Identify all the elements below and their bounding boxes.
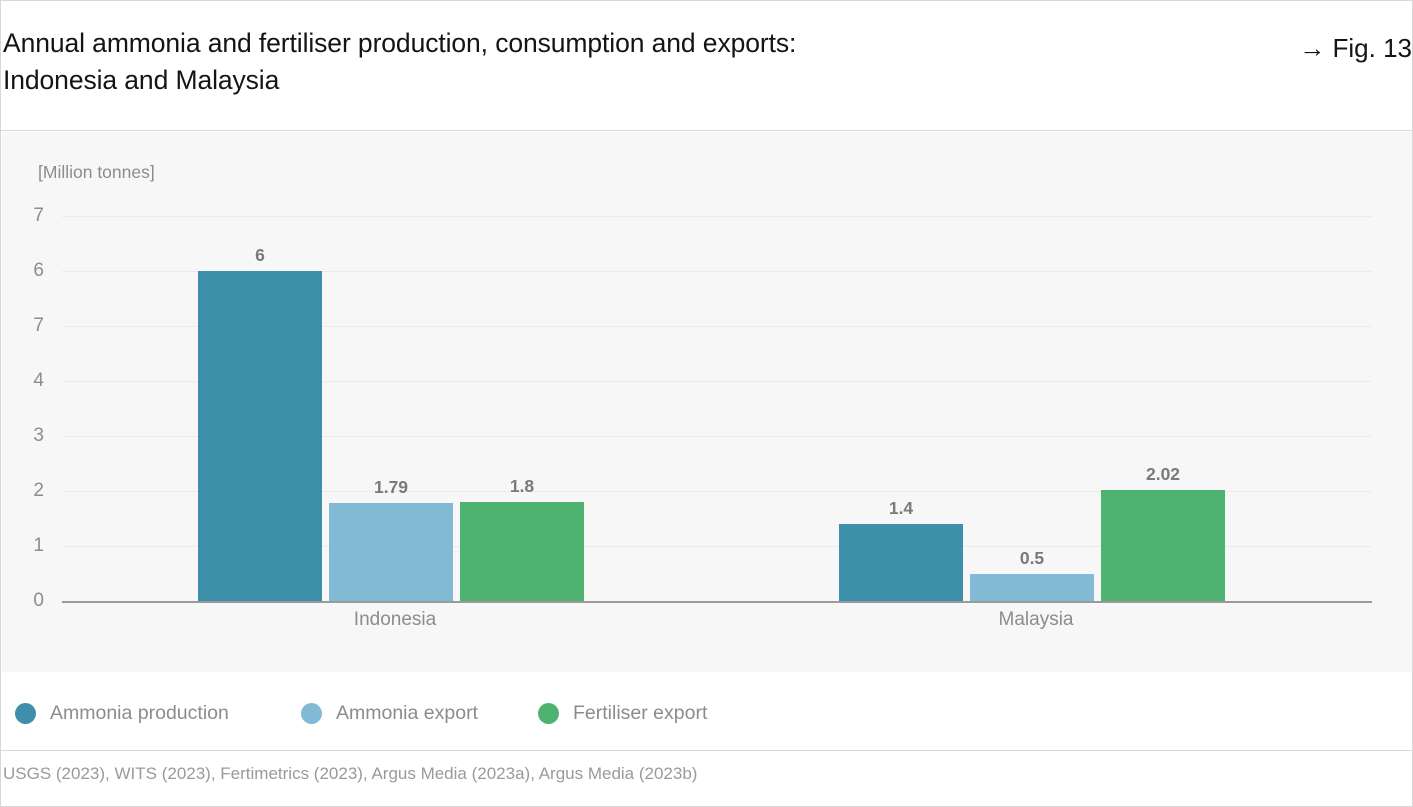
bar-value-label: 2.02 xyxy=(1146,464,1180,485)
y-axis-tick-label: 0 xyxy=(2,590,44,612)
y-axis-tick-label: 7 xyxy=(2,205,44,227)
figure-page: Annual ammonia and fertiliser production… xyxy=(0,0,1413,807)
bar[interactable] xyxy=(1101,490,1225,601)
bar-value-label: 1.79 xyxy=(374,477,408,498)
bar-value-label: 1.4 xyxy=(889,498,913,519)
y-axis-tick-label: 7 xyxy=(2,315,44,337)
legend-item-label: Ammonia production xyxy=(50,702,229,725)
source-citation: USGS (2023), WITS (2023), Fertimetrics (… xyxy=(3,764,697,784)
plot-area: 0123476761.791.8Indonesia1.40.52.02Malay… xyxy=(2,132,1412,672)
bar-value-label: 0.5 xyxy=(1020,548,1044,569)
page-title: Annual ammonia and fertiliser production… xyxy=(3,25,1183,99)
legend-color-swatch-icon xyxy=(15,703,36,724)
legend-item[interactable]: Ammonia production xyxy=(15,702,229,725)
chart-legend: Ammonia productionAmmonia exportFertilis… xyxy=(1,672,1412,751)
legend-color-swatch-icon xyxy=(538,703,559,724)
legend-item-label: Fertiliser export xyxy=(573,702,707,725)
legend-item-label: Ammonia export xyxy=(336,702,478,725)
bar[interactable] xyxy=(198,271,322,601)
legend-item[interactable]: Fertiliser export xyxy=(538,702,707,725)
y-axis-tick-label: 1 xyxy=(2,535,44,557)
y-axis-tick-label: 4 xyxy=(2,370,44,392)
chart-panel: [Million tonnes] 0123476761.791.8Indones… xyxy=(2,132,1412,672)
legend-color-swatch-icon xyxy=(301,703,322,724)
y-axis-tick-label: 2 xyxy=(2,480,44,502)
bar[interactable] xyxy=(970,574,1094,602)
bar[interactable] xyxy=(460,502,584,601)
bar[interactable] xyxy=(839,524,963,601)
y-axis-tick-label: 3 xyxy=(2,425,44,447)
bar-value-label: 1.8 xyxy=(510,476,534,497)
x-axis-line xyxy=(62,601,1372,603)
bar[interactable] xyxy=(329,503,453,601)
x-axis-category-label: Indonesia xyxy=(354,609,436,631)
y-axis-tick-label: 6 xyxy=(2,260,44,282)
bar-value-label: 6 xyxy=(255,245,265,266)
legend-item[interactable]: Ammonia export xyxy=(301,702,478,725)
figure-header: Annual ammonia and fertiliser production… xyxy=(1,1,1412,131)
x-axis-category-label: Malaysia xyxy=(999,609,1074,631)
gridline xyxy=(62,216,1372,217)
figure-reference: → Fig. 13 xyxy=(1299,31,1412,65)
